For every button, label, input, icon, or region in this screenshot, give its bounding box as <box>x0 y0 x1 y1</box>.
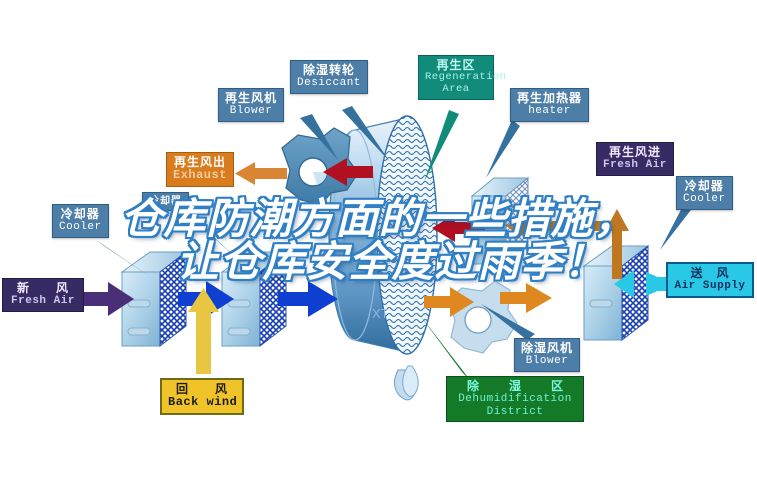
label-regeneration-area-en: Regeneration Area <box>425 72 487 96</box>
label-regen-heater-cn: 再生加热器 <box>517 92 582 105</box>
label-dehum-district-en: Dehumidification District <box>453 393 577 418</box>
label-regen-fresh-air-cn: 再生风进 <box>603 146 667 159</box>
label-regen-blower-en: Blower <box>225 105 277 117</box>
label-regen-exhaust-cn: 再生风出 <box>173 156 227 169</box>
label-regen-fresh-air-en: Fresh Air <box>603 159 667 171</box>
label-regeneration-area-cn: 再生区 <box>425 59 487 72</box>
label-desiccant-rotor[interactable]: 除湿转轮 Desiccant <box>290 60 368 94</box>
label-back-wind-cn: 回 风 <box>168 383 236 396</box>
label-cooler-left[interactable]: 冷却器 Cooler <box>52 204 109 238</box>
condensate-drip <box>394 366 418 400</box>
diagram-artwork: XT <box>0 0 757 488</box>
label-back-wind[interactable]: 回 风 Back wind <box>160 378 244 415</box>
label-cooler-right-cn: 冷却器 <box>683 180 726 193</box>
label-regen-fresh-air[interactable]: 再生风进 Fresh Air <box>596 142 674 176</box>
exhaust-arrow <box>235 162 287 185</box>
dehum-blower-housing <box>448 281 517 353</box>
label-dehum-district-cn: 除 湿 区 <box>453 380 577 393</box>
label-dehum-blower-en: Blower <box>521 355 573 367</box>
watermark-text: XT <box>372 306 389 321</box>
label-fresh-air-in[interactable]: 新 风 Fresh Air <box>2 278 84 312</box>
label-dehum-blower-cn: 除湿风机 <box>521 342 573 355</box>
label-regeneration-area[interactable]: 再生区 Regeneration Area <box>418 55 494 100</box>
label-cooler-right-en: Cooler <box>683 193 726 205</box>
label-dehum-blower[interactable]: 除湿风机 Blower <box>514 338 580 372</box>
label-dehum-district[interactable]: 除 湿 区 Dehumidification District <box>446 376 584 422</box>
label-fresh-air-in-cn: 新 风 <box>9 282 77 295</box>
label-desiccant-rotor-cn: 除湿转轮 <box>297 64 361 77</box>
label-cooler-left-cn: 冷却器 <box>59 208 102 221</box>
label-regen-heater[interactable]: 再生加热器 heater <box>510 88 589 122</box>
label-air-supply-en: Air Supply <box>674 280 746 292</box>
label-cooler-mid[interactable]: 冷却器 <box>142 192 189 211</box>
label-regen-exhaust-en: Exhaust <box>173 169 227 182</box>
label-cooler-left-en: Cooler <box>59 221 102 233</box>
label-air-supply-cn: 送 风 <box>674 267 746 280</box>
diagram-canvas: XT <box>0 0 757 488</box>
label-regen-blower-cn: 再生风机 <box>225 92 277 105</box>
label-regen-exhaust[interactable]: 再生风出 Exhaust <box>166 152 234 187</box>
cool-air-arrow-2 <box>278 281 338 317</box>
label-back-wind-en: Back wind <box>168 396 236 409</box>
label-regen-heater-en: heater <box>517 105 582 117</box>
label-fresh-air-in-en: Fresh Air <box>9 295 77 307</box>
label-cooler-mid-cn: 冷却器 <box>149 196 182 207</box>
label-cooler-right[interactable]: 冷却器 Cooler <box>676 176 733 210</box>
label-air-supply[interactable]: 送 风 Air Supply <box>666 262 754 298</box>
label-desiccant-rotor-en: Desiccant <box>297 77 361 89</box>
label-regen-blower[interactable]: 再生风机 Blower <box>218 88 284 122</box>
